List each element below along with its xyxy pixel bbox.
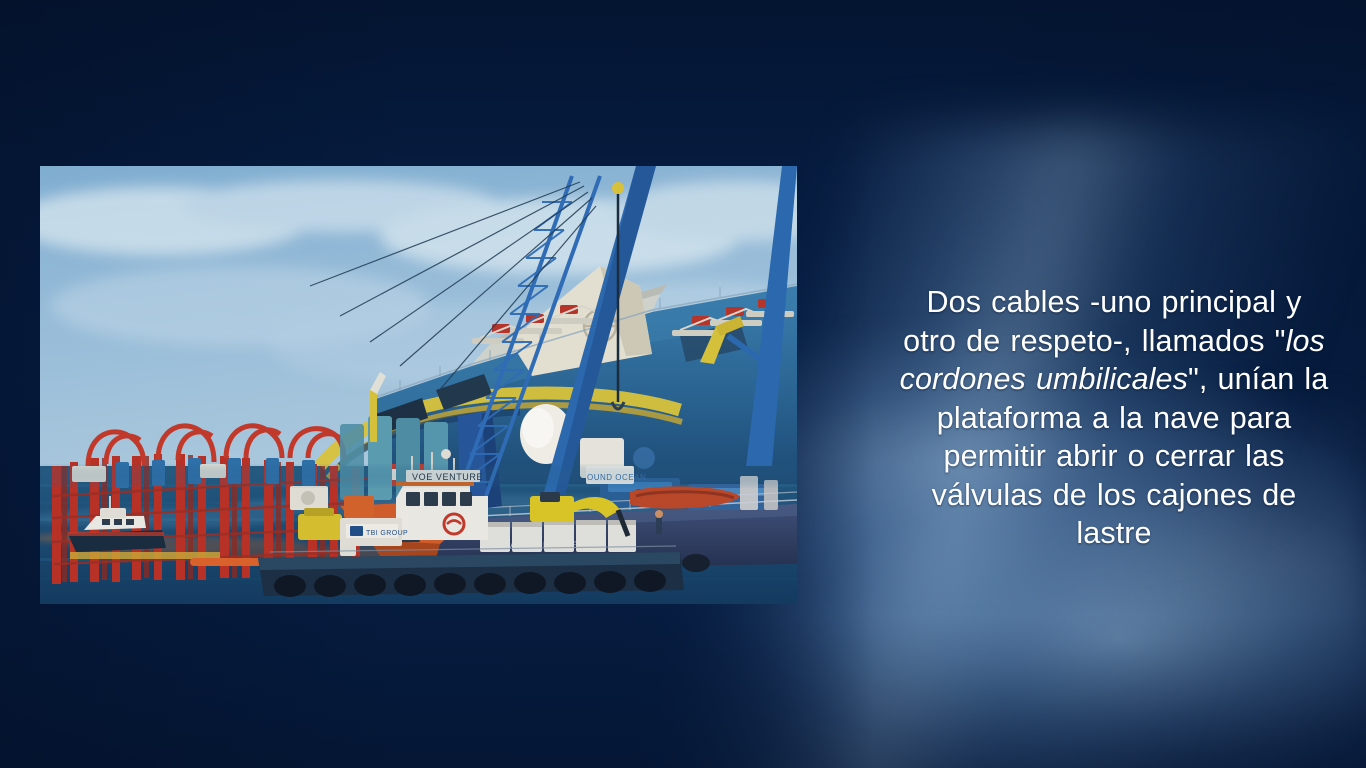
slide-caption: Dos cables -uno principal y otro de resp… [898,283,1330,553]
caption-text-part1: Dos cables -uno principal y otro de resp… [903,285,1301,358]
presentation-slide: ATB PIONEER [0,0,1366,768]
photo-artwork: ATB PIONEER [40,166,797,604]
svg-text:TBI GROUP: TBI GROUP [366,530,408,537]
salvage-operation-photo: ATB PIONEER [40,166,797,604]
